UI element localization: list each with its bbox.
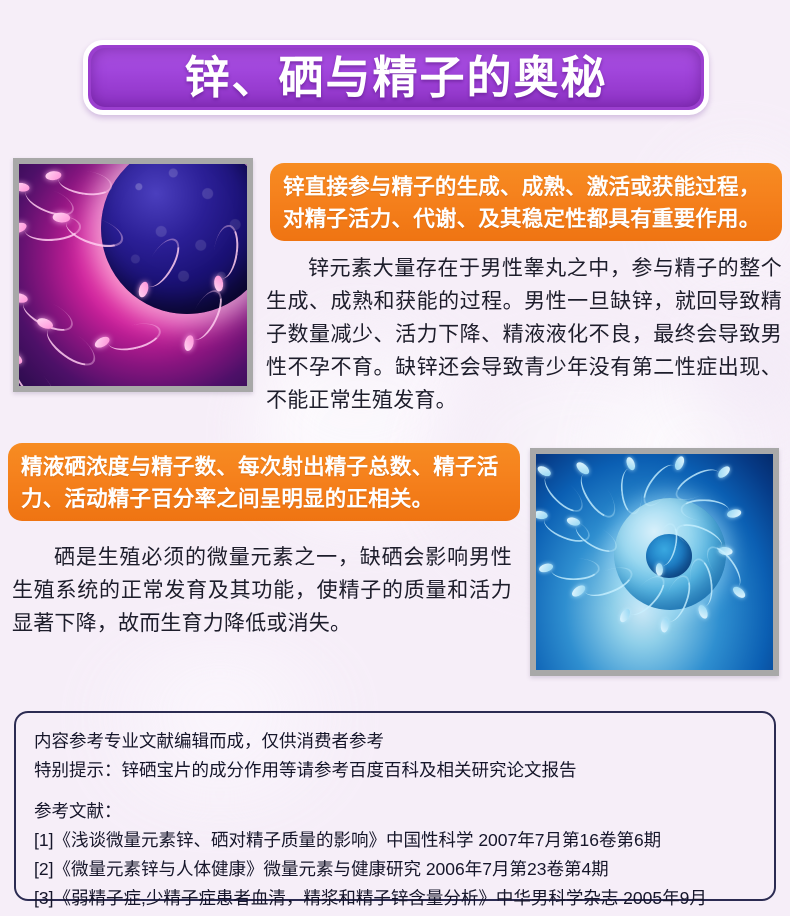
zinc-image-canvas xyxy=(19,164,247,386)
reference-item: [1]《浅谈微量元素锌、硒对精子质量的影响》中国性科学 2007年7月第16卷第… xyxy=(34,826,756,855)
reference-box: 内容参考专业文献编辑而成，仅供消费者参考 特别提示：锌硒宝片的成分作用等请参考百… xyxy=(14,711,776,901)
zinc-callout: 锌直接参与精子的生成、成熟、激活或获能过程，对精子活力、代谢、及其稳定性都具有重… xyxy=(270,163,782,241)
promo-page: 锌、硒与精子的奥秘 锌直接参与精子的生成、成熟、激活或获能过程，对精子活力、代谢… xyxy=(0,0,790,916)
page-title: 锌、硒与精子的奥秘 xyxy=(184,55,607,100)
selenium-image-canvas xyxy=(536,454,773,670)
zinc-section-image xyxy=(13,158,253,392)
disclaimer-text: 内容参考专业文献编辑而成，仅供消费者参考 xyxy=(34,727,756,756)
spacer xyxy=(34,785,756,795)
selenium-callout: 精液硒浓度与精子数、每次射出精子总数、精子活力、活动精子百分率之间呈明显的正相关… xyxy=(8,443,520,521)
selenium-paragraph: 硒是生殖必须的微量元素之一，缺硒会影响男性生殖系统的正常发育及其功能，使精子的质… xyxy=(12,541,512,640)
page-title-inner: 锌、硒与精子的奥秘 xyxy=(91,48,701,107)
selenium-section-image xyxy=(530,448,779,676)
reference-item: [3]《弱精子症,少精子症患者血清，精浆和精子锌含量分析》中华男科学杂志 200… xyxy=(34,884,756,913)
page-title-banner: 锌、硒与精子的奥秘 xyxy=(83,40,709,115)
references-heading: 参考文献： xyxy=(34,797,756,826)
reference-item: [2]《微量元素锌与人体健康》微量元素与健康研究 2006年7月第23卷第4期 xyxy=(34,855,756,884)
notice-text: 特别提示：锌硒宝片的成分作用等请参考百度百科及相关研究论文报告 xyxy=(34,756,756,785)
zinc-paragraph: 锌元素大量存在于男性睾丸之中，参与精子的整个生成、成熟和获能的过程。男性一旦缺锌… xyxy=(266,252,782,417)
